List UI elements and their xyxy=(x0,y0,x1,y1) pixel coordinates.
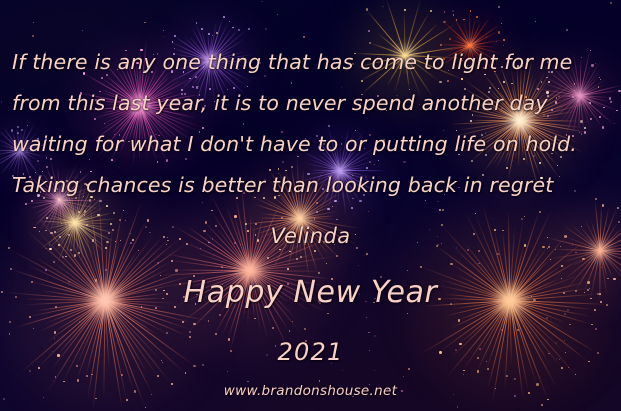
quote-line-4: Taking chances is better than looking ba… xyxy=(12,173,553,197)
text-layer: If there is any one thing that has come … xyxy=(0,0,621,411)
signature-text: Velinda xyxy=(0,224,621,248)
quote-line-1: If there is any one thing that has come … xyxy=(12,50,572,74)
greeting-text: Happy New Year xyxy=(0,275,621,310)
quote-line-3: waiting for what I don't have to or putt… xyxy=(12,132,577,156)
new-year-greeting-card: If there is any one thing that has come … xyxy=(0,0,621,411)
year-text: 2021 xyxy=(0,338,621,366)
quote-line-2: from this last year, it is to never spen… xyxy=(12,91,548,115)
website-url: www.brandonshouse.net xyxy=(0,383,621,399)
